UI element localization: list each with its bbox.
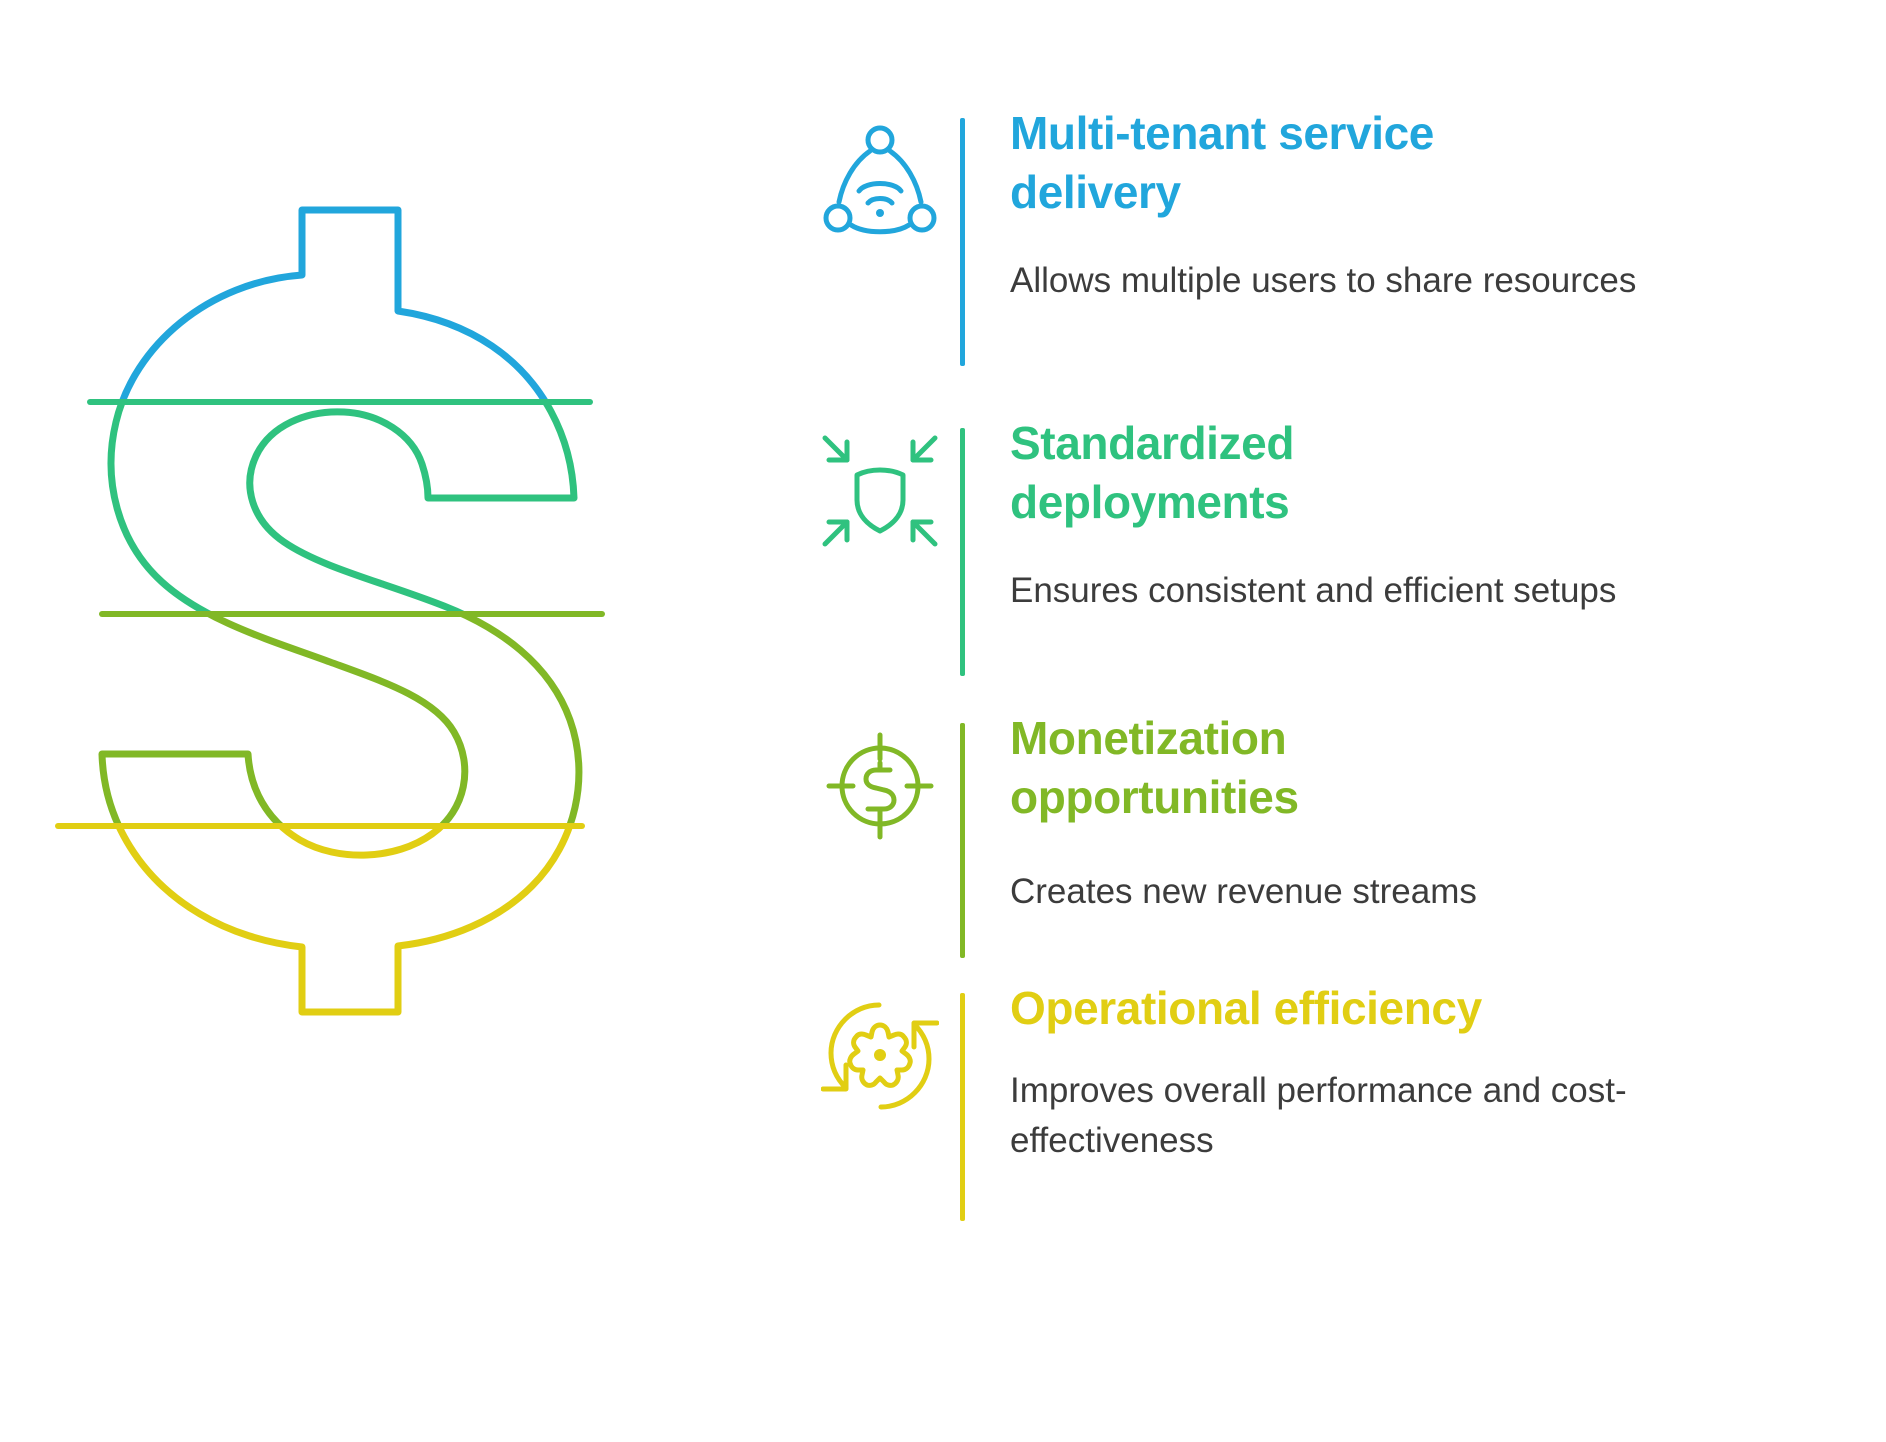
feature-description: Improves overall performance and cost-ef…: [1010, 1066, 1670, 1165]
icon-cell: [800, 410, 960, 550]
gear-refresh-icon: [821, 997, 939, 1115]
feature-title: Monetization opportunities: [1010, 709, 1440, 827]
feature-description: Allows multiple users to share resources: [1010, 256, 1650, 306]
text-cell: Multi-tenant service delivery Allows mul…: [1010, 100, 1860, 305]
feature-title: Multi-tenant service delivery: [1010, 104, 1570, 222]
feature-item-monetization[interactable]: Monetization opportunities Creates new r…: [800, 705, 1860, 958]
feature-item-operational[interactable]: Operational efficiency Improves overall …: [800, 975, 1860, 1221]
target-dollar-icon: [821, 727, 939, 845]
text-cell: Standardized deployments Ensures consist…: [1010, 410, 1860, 615]
icon-cell: [800, 705, 960, 845]
feature-title: Operational efficiency: [1010, 979, 1710, 1038]
feature-list: Multi-tenant service delivery Allows mul…: [800, 90, 1860, 1390]
text-cell: Operational efficiency Improves overall …: [1010, 975, 1860, 1165]
feature-item-standardized[interactable]: Standardized deployments Ensures consist…: [800, 410, 1860, 676]
feature-title: Standardized deployments: [1010, 414, 1440, 532]
dollar-sign-illustration: [30, 150, 670, 1080]
feature-item-multi-tenant[interactable]: Multi-tenant service delivery Allows mul…: [800, 100, 1860, 366]
accent-divider: [960, 118, 965, 366]
multi-tenant-network-icon: [821, 122, 939, 240]
shield-inward-arrows-icon: [821, 432, 939, 550]
text-cell: Monetization opportunities Creates new r…: [1010, 705, 1860, 916]
icon-cell: [800, 975, 960, 1115]
accent-divider: [960, 723, 965, 958]
infographic-canvas: Multi-tenant service delivery Allows mul…: [0, 0, 1886, 1442]
accent-divider: [960, 428, 965, 676]
accent-divider: [960, 993, 965, 1221]
icon-cell: [800, 100, 960, 240]
feature-description: Creates new revenue streams: [1010, 867, 1650, 917]
feature-description: Ensures consistent and efficient setups: [1010, 566, 1650, 616]
